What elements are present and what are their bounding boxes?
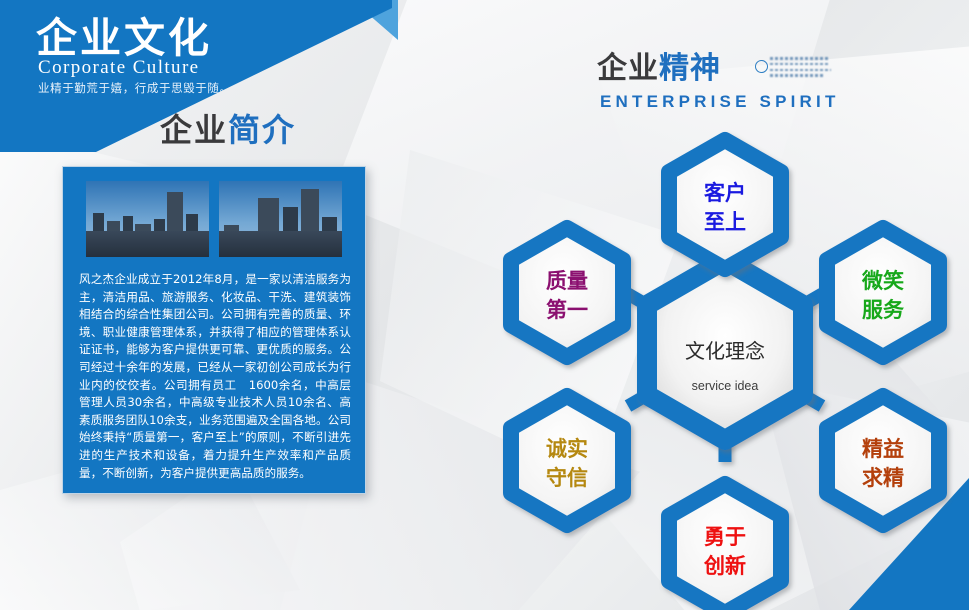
- blurred-decorative-text: [770, 57, 832, 87]
- hex-node-customer-first-line2: 至上: [704, 210, 746, 234]
- banner-title-en: Corporate Culture: [38, 57, 200, 79]
- banner-title-cn: 企业文化: [36, 18, 212, 59]
- intro-paragraph: 风之杰企业成立于2012年8月，是一家以清洁服务为主，清洁用品、旅游服务、化妆品…: [79, 271, 351, 482]
- intro-heading: 企业简介: [160, 114, 296, 146]
- hex-node-quality-first-line1: 质量: [546, 269, 588, 293]
- spirit-heading: 企业精神: [597, 54, 721, 84]
- hex-node-excellence-line2: 求精: [862, 466, 904, 490]
- spirit-heading-dark: 企业: [597, 52, 659, 85]
- hex-center-label-en: service idea: [692, 379, 759, 393]
- spirit-heading-en: ENTERPRISE SPIRIT: [600, 92, 840, 112]
- hex-node-customer-first-line1: 客户: [704, 181, 746, 205]
- slide-canvas: 企业文化 Corporate Culture 业精于勤荒于嬉，行成于思毁于随。 …: [0, 0, 969, 610]
- hex-node-integrity-line1: 诚实: [546, 437, 588, 461]
- hex-node-innovation-line2: 创新: [703, 554, 746, 578]
- hex-center-label-cn: 文化理念: [685, 339, 765, 363]
- hex-node-smile-service-line1: 微笑: [861, 269, 904, 293]
- banner-subtitle: 业精于勤荒于嬉，行成于思毁于随。: [38, 80, 232, 96]
- cityscape-photo-1: [86, 181, 209, 257]
- hex-node-integrity-line2: 守信: [546, 466, 588, 490]
- intro-card: 风之杰企业成立于2012年8月，是一家以清洁服务为主，清洁用品、旅游服务、化妆品…: [62, 166, 366, 494]
- hex-node-innovation-line1: 勇于: [704, 525, 746, 549]
- circle-decoration-icon: [755, 60, 768, 73]
- hex-node-quality-first-line2: 第一: [546, 298, 588, 322]
- culture-hexagon-diagram: 文化理念 service idea 客户 至上 质量 第一 微笑 服务: [480, 118, 969, 610]
- intro-photo-row: [86, 181, 342, 257]
- hex-node-smile-service-line2: 服务: [862, 298, 905, 322]
- intro-heading-dark: 企业: [160, 112, 228, 148]
- spirit-heading-blue: 精神: [659, 52, 721, 85]
- hex-node-excellence-line1: 精益: [862, 437, 904, 461]
- cityscape-photo-2: [219, 181, 342, 257]
- intro-heading-blue: 简介: [228, 112, 296, 148]
